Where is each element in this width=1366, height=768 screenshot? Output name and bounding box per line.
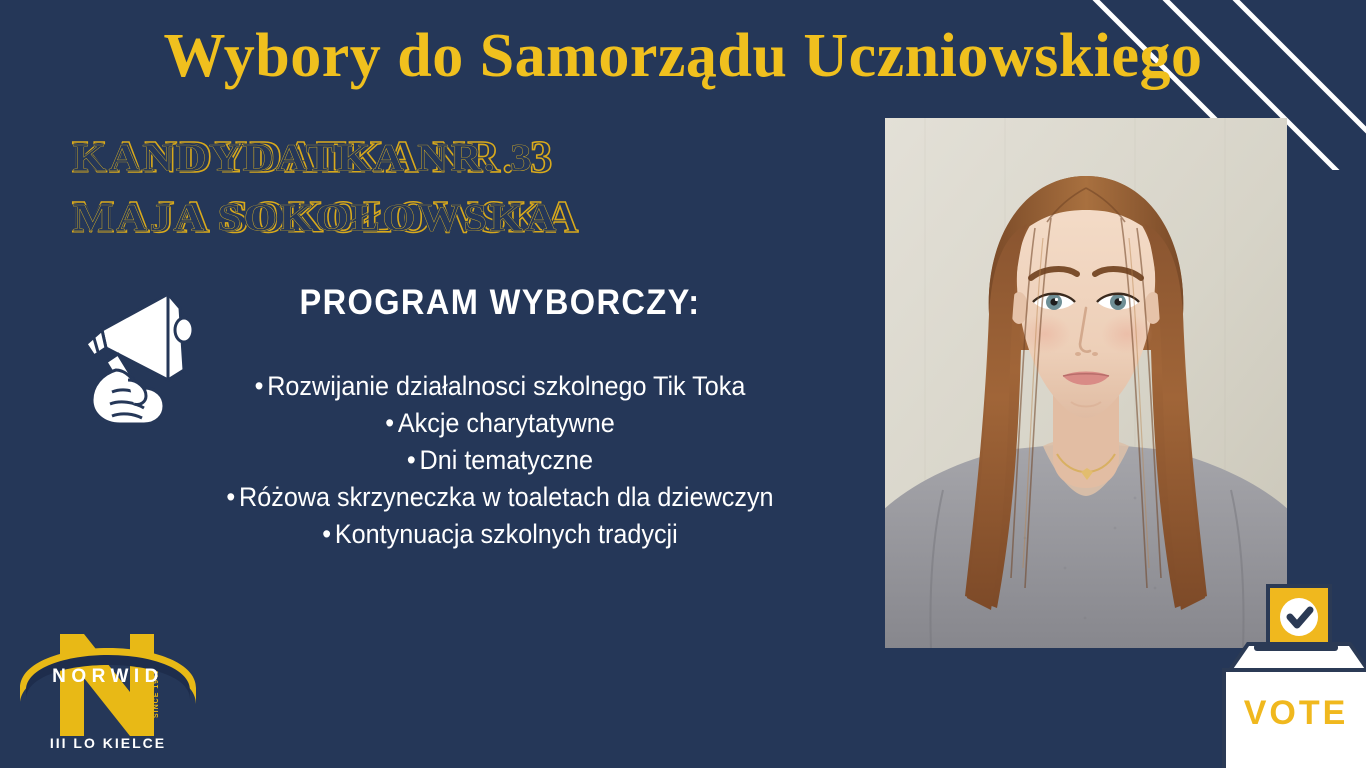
list-item: •Rozwijanie działalnosci szkolnego Tik T… (139, 368, 861, 405)
poster-title: Wybory do Samorządu Uczniowskiego (0, 24, 1366, 89)
vote-label: VOTE (1244, 694, 1349, 732)
list-item-label: Dni tematyczne (420, 445, 594, 475)
list-item-label: Kontynuacja szkolnych tradycji (335, 519, 678, 549)
program-bullet-list: •Rozwijanie działalnosci szkolnego Tik T… (139, 368, 861, 553)
candidate-photo (885, 118, 1287, 648)
candidate-number-line: KANDYDATKA NR. 3 (72, 128, 581, 188)
list-item: •Dni tematyczne (139, 442, 861, 479)
bullet-dot: • (322, 516, 331, 553)
election-poster: Wybory do Samorządu Uczniowskiego KANDYD… (0, 0, 1366, 768)
candidate-block: KANDYDATKA NR. 3 MAJA SOKOŁOWSKA (72, 128, 581, 248)
logo-subtitle: III LO KIELCE (50, 735, 166, 751)
bullet-dot: • (385, 405, 394, 442)
bullet-dot: • (407, 442, 416, 479)
program-heading: PROGRAM WYBORCZY: (156, 283, 844, 323)
candidate-name-line: MAJA SOKOŁOWSKA (72, 188, 581, 248)
school-logo: SINCE 1945 NORWID III LO KIELCE (12, 632, 204, 754)
list-item-label: Rozwijanie działalnosci szkolnego Tik To… (267, 371, 745, 401)
bullet-dot: • (226, 479, 235, 516)
ballot-box-illustration: VOTE (1196, 578, 1366, 768)
logo-banner-text: NORWID (52, 666, 164, 687)
list-item-label: Akcje charytatywne (398, 408, 615, 438)
ballot-card-icon (1268, 586, 1330, 648)
list-item: •Akcje charytatywne (139, 405, 861, 442)
list-item: •Różowa skrzyneczka w toaletach dla dzie… (139, 479, 861, 516)
list-item: •Kontynuacja szkolnych tradycji (139, 516, 861, 553)
bullet-dot: • (255, 368, 264, 405)
list-item-label: Różowa skrzyneczka w toaletach dla dziew… (239, 482, 774, 512)
